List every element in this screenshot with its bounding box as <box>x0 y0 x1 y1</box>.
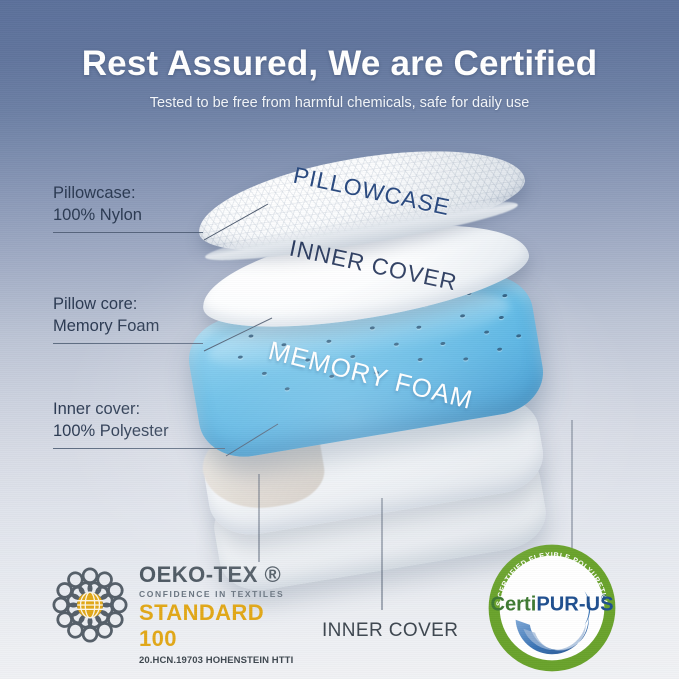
callout-pillowcase-rule <box>53 232 203 233</box>
oeko-tex-standard: STANDARD 100 <box>139 600 297 652</box>
callout-pillowcase-line1: Pillowcase: <box>53 183 203 205</box>
oeko-globe <box>77 592 103 618</box>
certipur-wordmark: CertiPUR-US <box>490 594 613 616</box>
label-inner-cover-bottom: INNER COVER <box>322 620 458 642</box>
callout-inner-cover: Inner cover: 100% Polyester <box>53 399 225 449</box>
callout-core-rule <box>53 343 203 344</box>
leader-line-inner <box>226 424 278 456</box>
callout-inner-line1: Inner cover: <box>53 399 225 421</box>
oeko-tex-tagline: CONFIDENCE IN TEXTILES <box>139 589 297 599</box>
oeko-tex-name: OEKO-TEX ® <box>139 562 297 588</box>
leader-line-core <box>204 318 272 351</box>
callout-core-line1: Pillow core: <box>53 294 203 316</box>
leader-line-pillowcase <box>204 204 268 240</box>
callout-pillow-core: Pillow core: Memory Foam <box>53 294 203 344</box>
oeko-tex-certificate-number: 20.HCN.19703 HOHENSTEIN HTTI <box>139 655 297 666</box>
oeko-tex-text: OEKO-TEX ® CONFIDENCE IN TEXTILES STANDA… <box>139 562 297 666</box>
callout-inner-line2: 100% Polyester <box>53 421 225 443</box>
callout-pillowcase: Pillowcase: 100% Nylon <box>53 183 203 233</box>
product-infographic: Rest Assured, We are Certified Tested to… <box>0 0 679 679</box>
callout-pillowcase-line2: 100% Nylon <box>53 205 203 227</box>
certipur-registered-mark: ® <box>601 594 607 602</box>
oeko-tex-badge: OEKO-TEX ® CONFIDENCE IN TEXTILES STANDA… <box>47 558 297 650</box>
oeko-tex-logo-icon <box>47 562 133 648</box>
callout-core-line2: Memory Foam <box>53 316 203 338</box>
callout-inner-rule <box>53 448 225 449</box>
certipur-us-badge: CONTAINS CERTIFIED FLEXIBLE POLYURETHANE… <box>487 543 617 673</box>
